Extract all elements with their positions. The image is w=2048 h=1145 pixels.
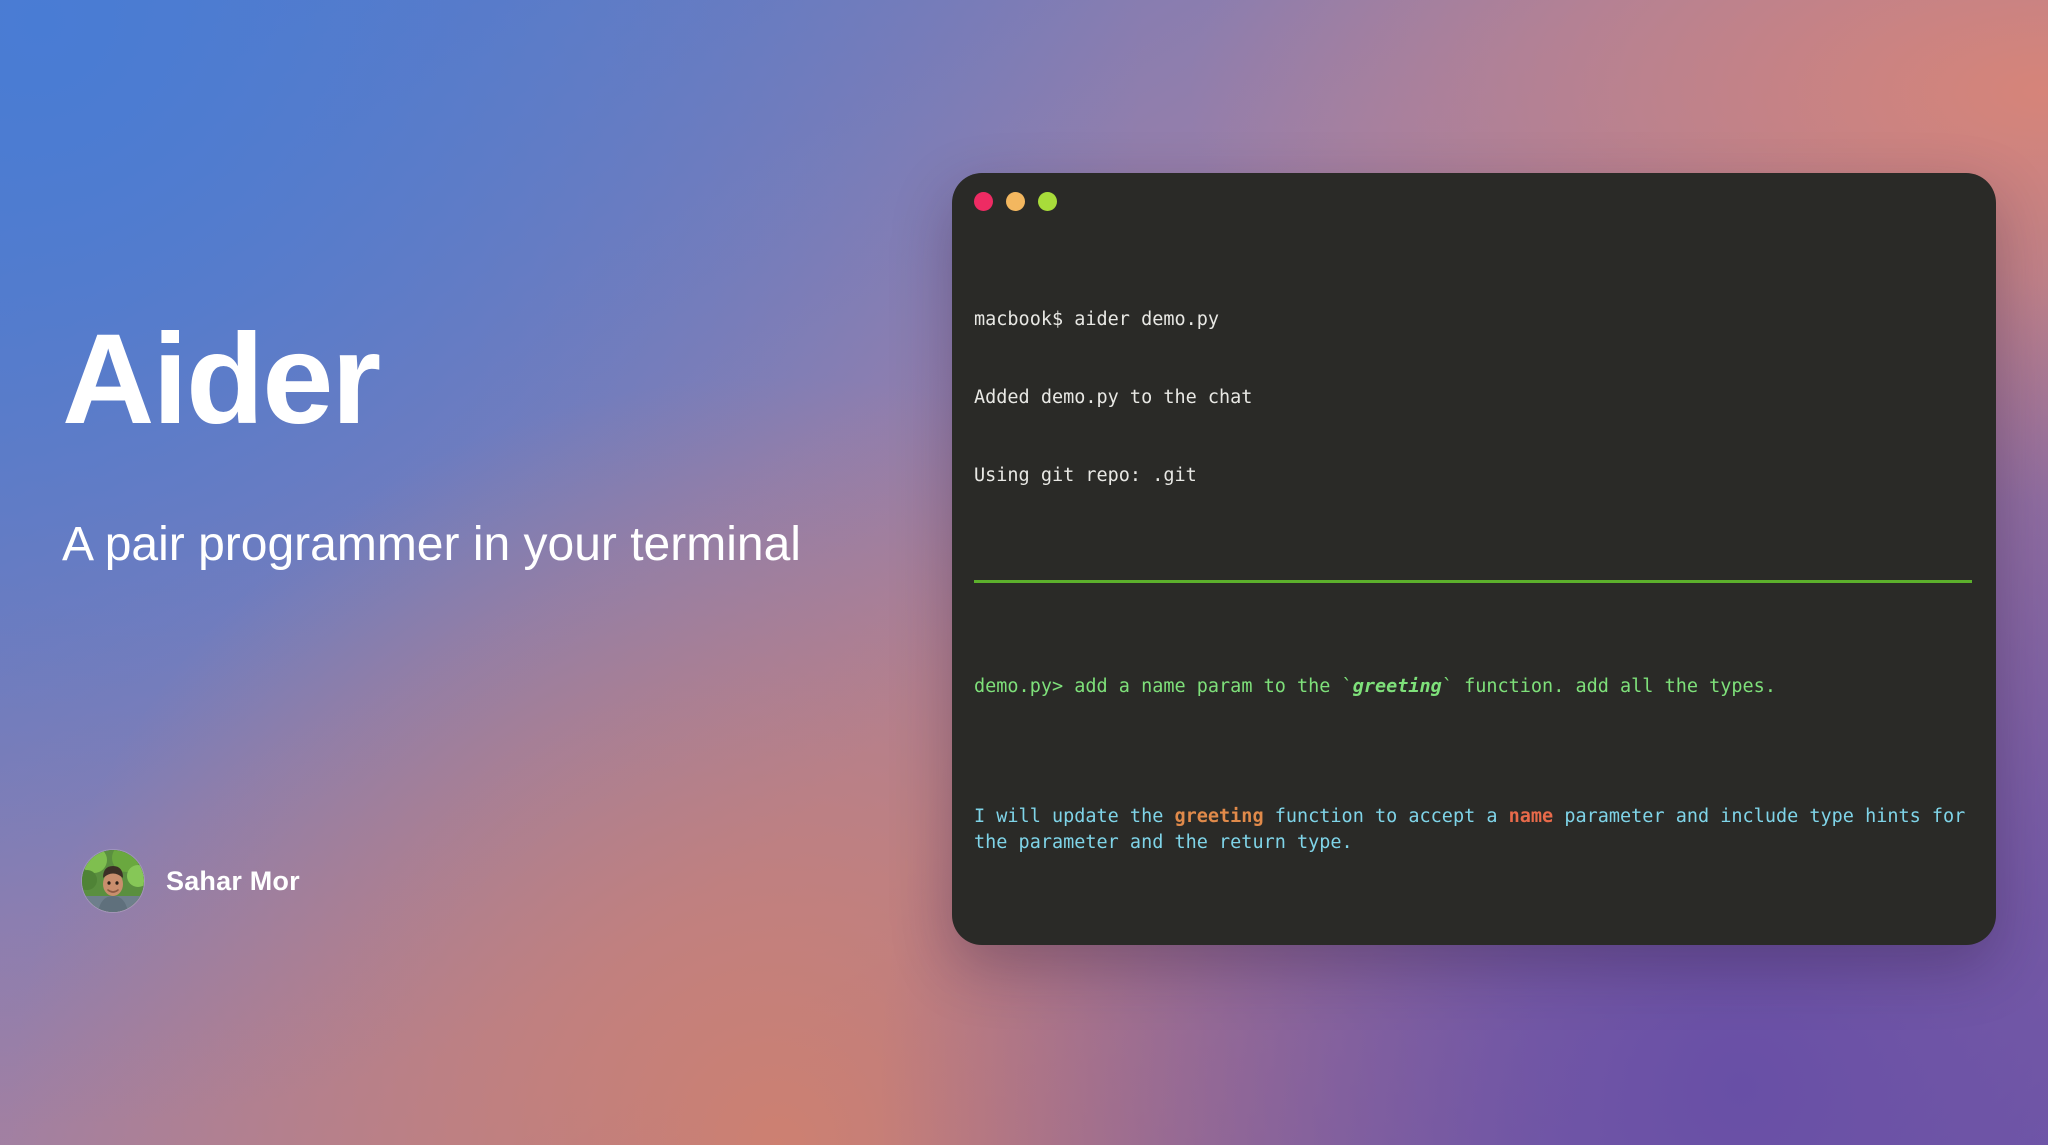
person-photo-avatar-icon xyxy=(82,850,144,912)
page-title: Aider xyxy=(62,316,379,444)
minimize-button[interactable] xyxy=(1006,192,1025,211)
author-name: Sahar Mor xyxy=(166,866,300,897)
close-button[interactable] xyxy=(974,192,993,211)
terminal-boot-line: Added demo.py to the chat xyxy=(974,385,1972,411)
hero-subtitle: A pair programmer in your terminal xyxy=(62,512,822,578)
terminal-boot-line: macbook$ aider demo.py xyxy=(974,307,1972,333)
author-byline: Sahar Mor xyxy=(82,850,300,912)
assistant-text-1: I will update the xyxy=(974,806,1174,827)
assistant-response: I will update the greeting function to a… xyxy=(974,804,1972,856)
maximize-button[interactable] xyxy=(1038,192,1057,211)
terminal-body: macbook$ aider demo.py Added demo.py to … xyxy=(952,229,1996,945)
avatar xyxy=(82,850,144,912)
separator-rule-top xyxy=(974,580,1972,583)
prompt-text-before: add a name param to the ` xyxy=(1074,676,1352,697)
terminal-window: macbook$ aider demo.py Added demo.py to … xyxy=(952,173,1996,945)
prompt-inline-code: greeting xyxy=(1353,676,1442,697)
prompt-text-after: ` function. add all the types. xyxy=(1442,676,1776,697)
user-prompt-line: demo.py> add a name param to the `greeti… xyxy=(974,674,1972,700)
hero-section: Aider A pair programmer in your terminal xyxy=(62,0,822,1145)
prompt-prefix: demo.py> xyxy=(974,676,1074,697)
assistant-text-2: function to accept a xyxy=(1264,806,1509,827)
terminal-boot-line: Using git repo: .git xyxy=(974,463,1972,489)
assistant-inline-code-name: name xyxy=(1509,806,1554,827)
terminal-titlebar xyxy=(952,173,1996,229)
assistant-inline-code-greeting: greeting xyxy=(1174,806,1263,827)
